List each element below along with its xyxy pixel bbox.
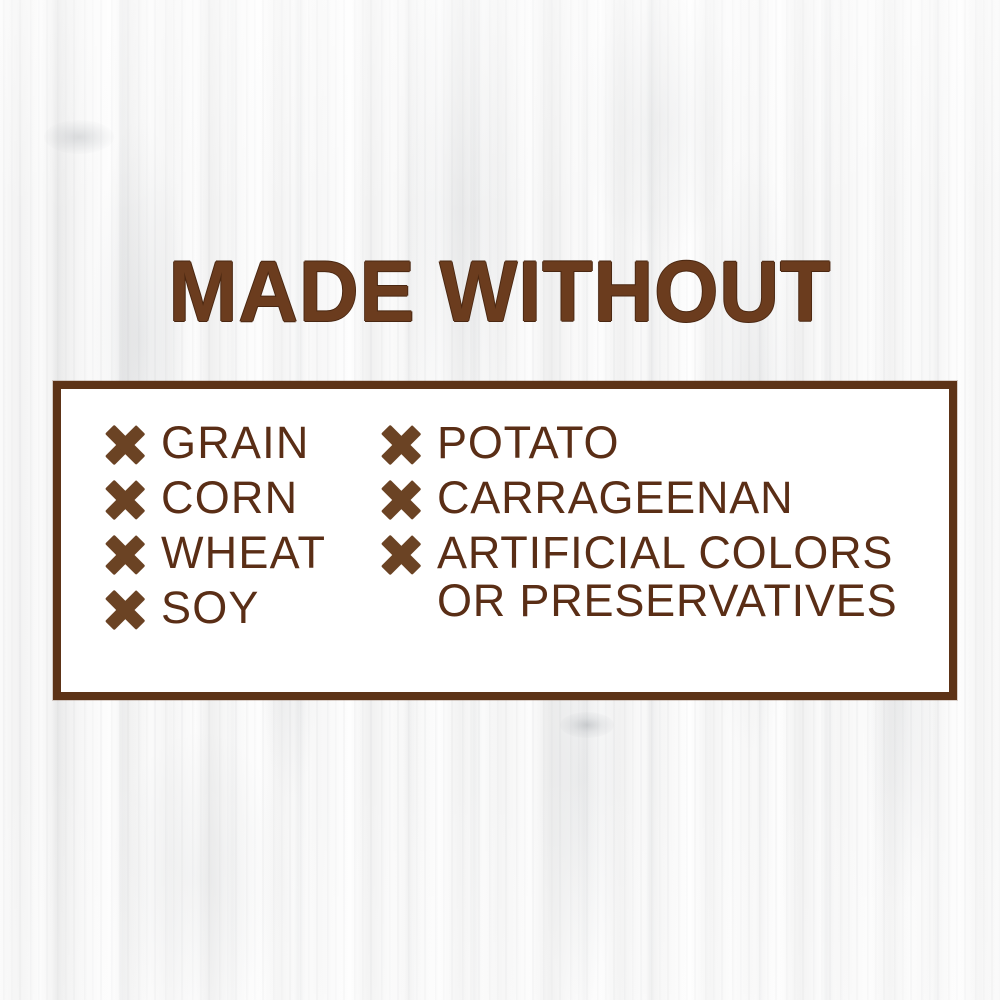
list-item: WHEAT xyxy=(106,533,406,588)
list-item-label: WHEAT xyxy=(161,529,326,577)
page-title: MADE WITHOUT xyxy=(20,249,980,335)
x-mark-icon xyxy=(106,426,144,464)
list-item-label: CORN xyxy=(161,474,298,522)
x-mark-icon xyxy=(382,536,420,574)
list-item: CARRAGEENAN xyxy=(382,478,912,533)
list-item-label: ARTIFICIAL COLORS OR PRESERVATIVES xyxy=(437,529,897,625)
panel-inner: GRAIN CORN WHEAT SOY POT xyxy=(61,389,949,692)
made-without-graphic: MADE WITHOUT GRAIN CORN WHEAT SO xyxy=(0,0,1000,1000)
x-mark-icon xyxy=(382,426,420,464)
list-item: GRAIN xyxy=(106,423,406,478)
list-item-label: GRAIN xyxy=(161,419,310,467)
ingredient-column-right: POTATO CARRAGEENAN ARTIFICIAL COLORS OR … xyxy=(382,423,912,625)
list-item: ARTIFICIAL COLORS OR PRESERVATIVES xyxy=(382,533,912,625)
x-mark-icon xyxy=(382,481,420,519)
list-item: SOY xyxy=(106,588,406,643)
ingredient-column-left: GRAIN CORN WHEAT SOY xyxy=(106,423,406,643)
x-mark-icon xyxy=(106,536,144,574)
list-item-label: SOY xyxy=(161,584,260,632)
list-item-label: POTATO xyxy=(437,419,619,467)
list-item: CORN xyxy=(106,478,406,533)
x-mark-icon xyxy=(106,591,144,629)
list-item: POTATO xyxy=(382,423,912,478)
x-mark-icon xyxy=(106,481,144,519)
list-item-label: CARRAGEENAN xyxy=(437,474,793,522)
made-without-panel: GRAIN CORN WHEAT SOY POT xyxy=(53,381,957,700)
